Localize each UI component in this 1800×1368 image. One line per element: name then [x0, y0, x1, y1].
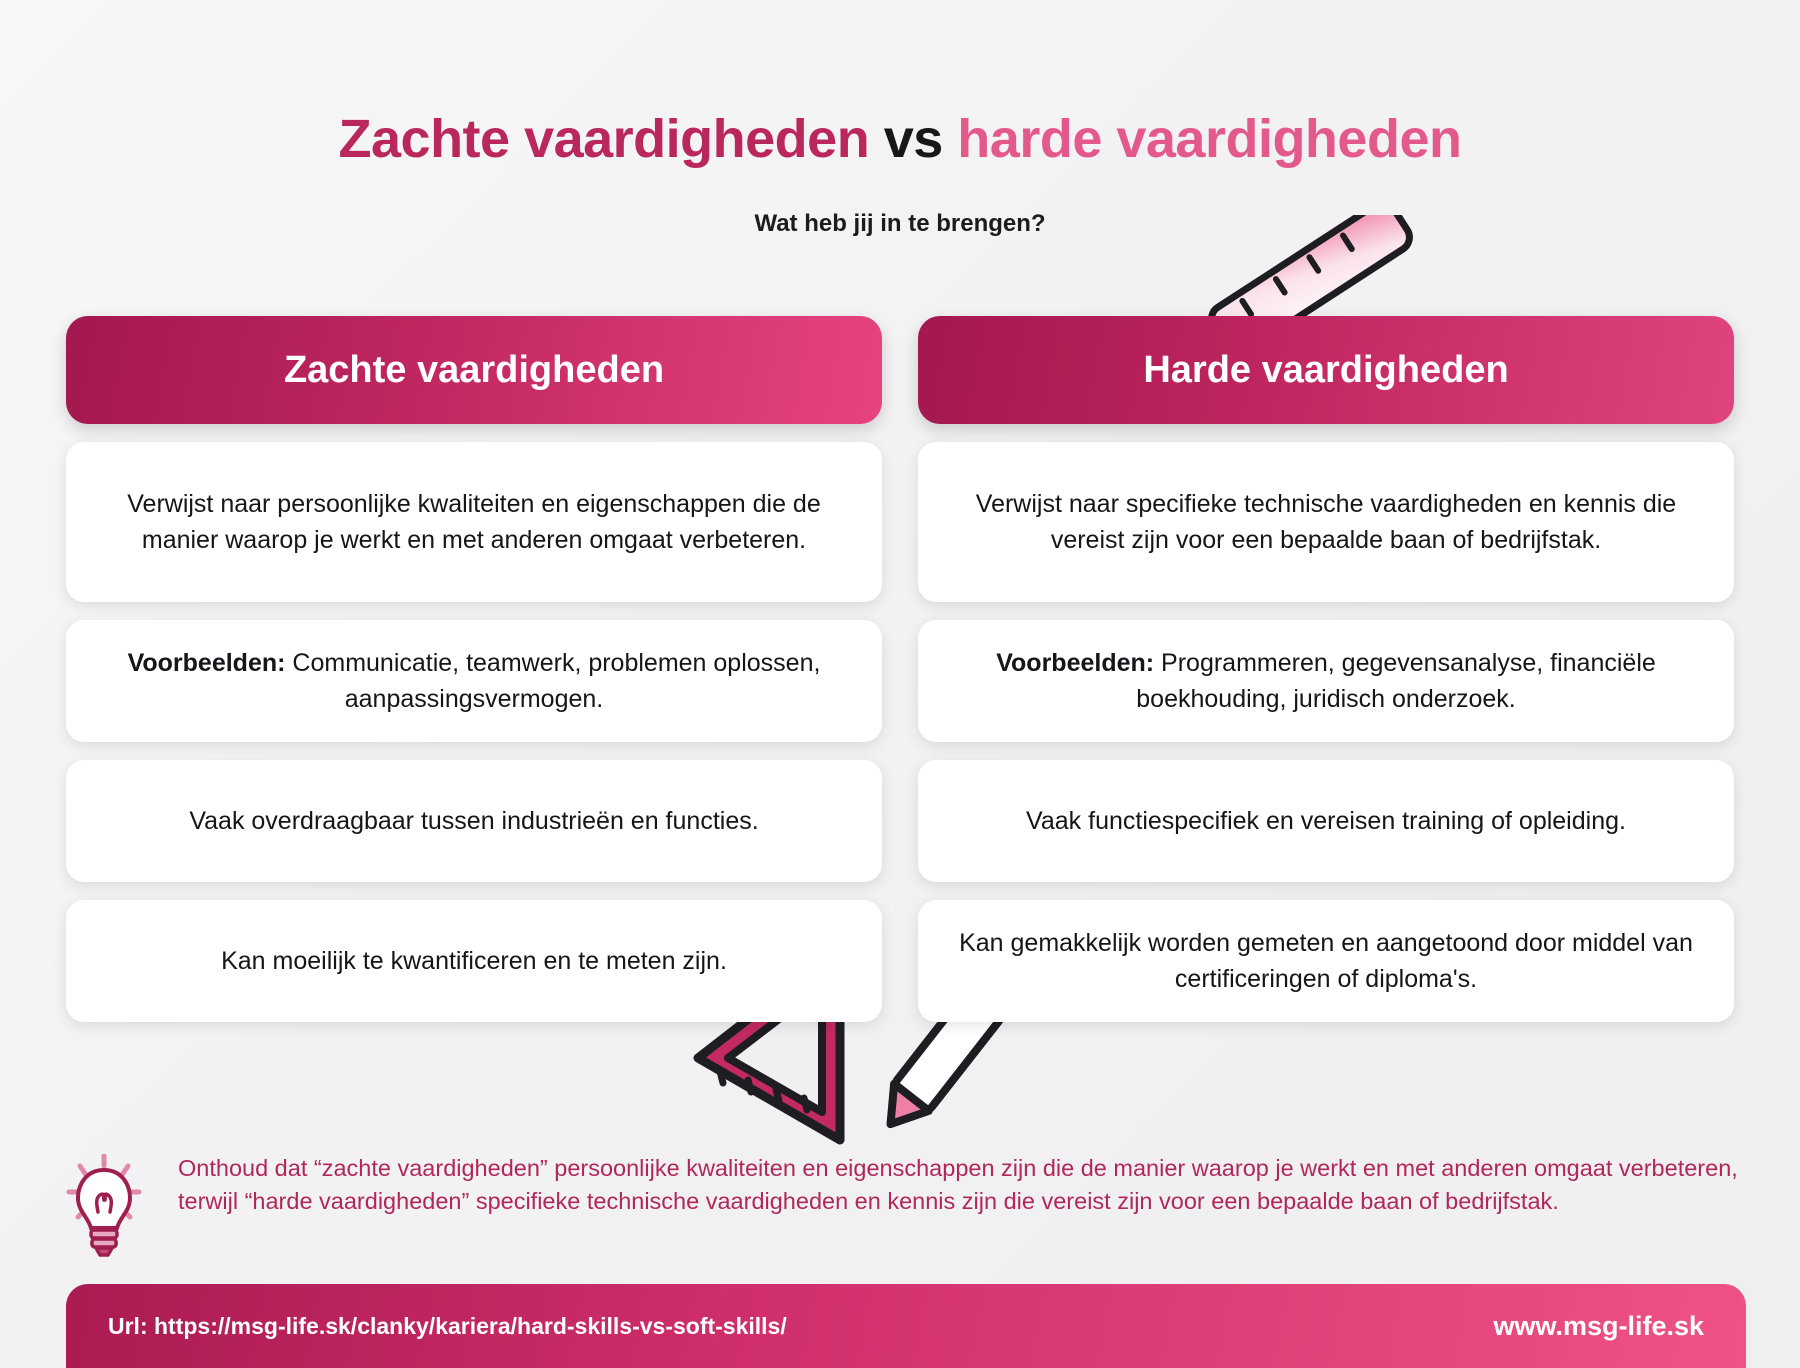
title-soft-part: Zachte vaardigheden: [339, 109, 870, 169]
card-text: Vaak overdraagbaar tussen industrieën en…: [189, 803, 758, 839]
card-text: Communicatie, teamwerk, problemen oploss…: [292, 649, 820, 713]
card-hard-measurement: Kan gemakkelijk worden gemeten en aanget…: [918, 900, 1734, 1022]
page-subtitle: Wat heb jij in te brengen?: [0, 210, 1800, 238]
footnote: Onthoud dat “zachte vaardigheden” persoo…: [66, 1152, 1746, 1258]
card-text: Kan moeilijk te kwantificeren en te mete…: [221, 943, 727, 979]
column-soft-skills: Zachte vaardigheden Verwijst naar persoo…: [66, 316, 882, 1022]
card-hard-definition: Verwijst naar specifieke technische vaar…: [918, 442, 1734, 602]
card-soft-examples: Voorbeelden: Communicatie, teamwerk, pro…: [66, 620, 882, 742]
card-text: Verwijst naar specifieke technische vaar…: [948, 486, 1704, 559]
card-hard-examples: Voorbeelden: Programmeren, gegevensanaly…: [918, 620, 1734, 742]
footer-site-name[interactable]: www.msg-life.sk: [1493, 1311, 1704, 1342]
column-header-hard-skills: Harde vaardigheden: [918, 316, 1734, 424]
lightbulb-icon: [66, 1154, 142, 1258]
card-text: Verwijst naar persoonlijke kwaliteiten e…: [96, 486, 852, 559]
column-hard-skills: Harde vaardigheden Verwijst naar specifi…: [918, 316, 1734, 1022]
card-soft-definition: Verwijst naar persoonlijke kwaliteiten e…: [66, 442, 882, 602]
footer-url[interactable]: Url: https://msg-life.sk/clanky/kariera/…: [108, 1313, 787, 1340]
card-text: Programmeren, gegevensanalyse, financiël…: [1136, 649, 1656, 713]
card-soft-measurement: Kan moeilijk te kwantificeren en te mete…: [66, 900, 882, 1022]
card-text: Vaak functiespecifiek en vereisen traini…: [1026, 803, 1626, 839]
column-header-soft-skills: Zachte vaardigheden: [66, 316, 882, 424]
infographic-page: Zachte vaardigheden vs harde vaardighede…: [0, 0, 1800, 1368]
card-body: Voorbeelden: Communicatie, teamwerk, pro…: [96, 645, 852, 718]
card-hard-specificity: Vaak functiespecifiek en vereisen traini…: [918, 760, 1734, 882]
card-body: Voorbeelden: Programmeren, gegevensanaly…: [948, 645, 1704, 718]
footer-bar: Url: https://msg-life.sk/clanky/kariera/…: [66, 1284, 1746, 1368]
page-title: Zachte vaardigheden vs harde vaardighede…: [0, 108, 1800, 170]
comparison-columns: Zachte vaardigheden Verwijst naar persoo…: [0, 316, 1800, 1022]
footnote-text: Onthoud dat “zachte vaardigheden” persoo…: [178, 1152, 1746, 1219]
title-hard-part: harde vaardigheden: [957, 109, 1461, 169]
card-lead: Voorbeelden:: [996, 649, 1154, 677]
card-text: Kan gemakkelijk worden gemeten en aanget…: [948, 925, 1704, 998]
title-vs-part: vs: [884, 109, 943, 169]
card-soft-transferable: Vaak overdraagbaar tussen industrieën en…: [66, 760, 882, 882]
card-lead: Voorbeelden:: [128, 649, 286, 677]
